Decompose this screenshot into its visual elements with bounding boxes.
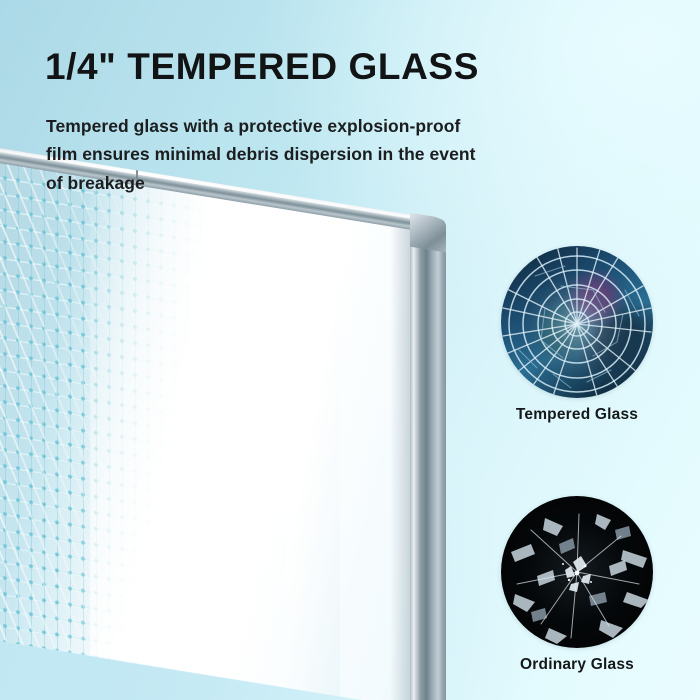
comparison-tempered-glass: Tempered Glass <box>501 246 653 398</box>
tempered-crack-web-icon <box>501 246 653 398</box>
page-title: 1/4" TEMPERED GLASS <box>45 48 479 87</box>
product-feature-banner: 1/4" TEMPERED GLASS Tempered glass with … <box>0 0 700 700</box>
tempered-glass-photo <box>501 246 653 398</box>
tempered-glass-panel-image <box>0 152 412 700</box>
comparison-ordinary-glass: Ordinary Glass <box>501 496 653 648</box>
ordinary-glass-label: Ordinary Glass <box>477 656 677 674</box>
glass-edge-highlight <box>286 208 340 697</box>
panel-inner-shadow <box>390 224 412 700</box>
glass-specular-highlight <box>90 176 420 700</box>
feature-description: Tempered glass with a protective explosi… <box>46 112 476 197</box>
chrome-frame-rounded-corner <box>410 213 446 253</box>
ordinary-shards-icon <box>501 496 653 648</box>
tempered-glass-label: Tempered Glass <box>477 406 677 424</box>
chrome-frame-right-post <box>410 214 446 700</box>
ordinary-glass-photo <box>501 496 653 648</box>
